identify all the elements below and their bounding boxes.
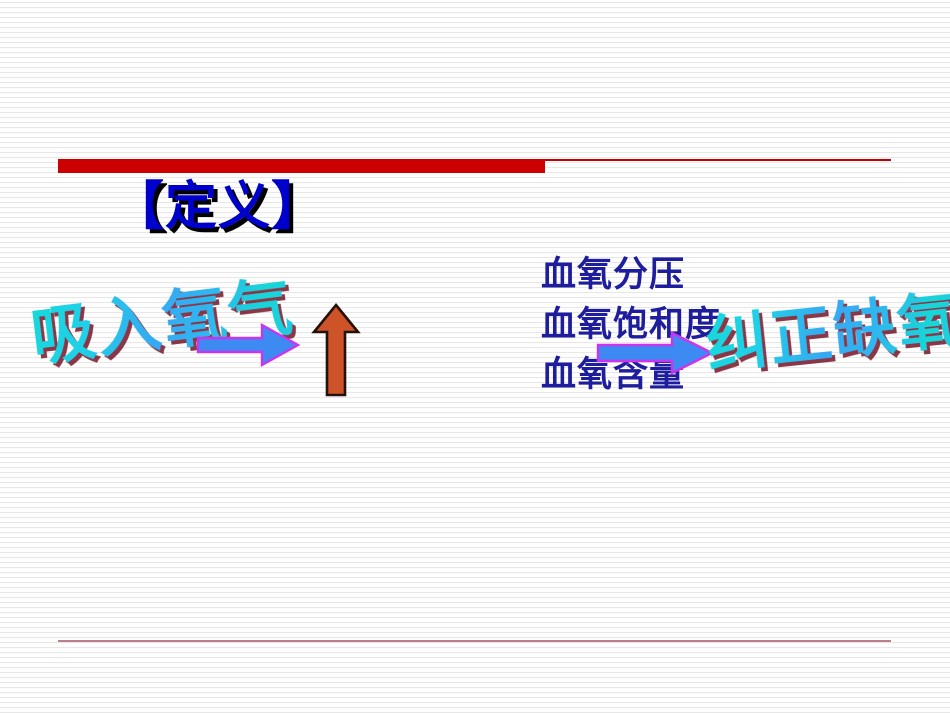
list-item: 血氧分压 <box>541 250 721 300</box>
wordart-correct-hypoxia: 纠正缺氧 <box>703 286 950 380</box>
title-rule-thick <box>58 160 545 173</box>
up-arrow-icon <box>311 302 361 398</box>
right-arrow-icon <box>596 330 714 376</box>
footer-rule <box>58 640 891 642</box>
indicator-list: 血氧分压 血氧饱和度 血氧含量 <box>541 250 721 400</box>
slide-canvas: 【定义】 吸入氧气 血氧分压 血氧饱和度 血氧含量 纠正缺氧 <box>0 0 950 713</box>
right-arrow-icon <box>196 322 300 368</box>
page-title: 【定义】 <box>112 178 324 236</box>
